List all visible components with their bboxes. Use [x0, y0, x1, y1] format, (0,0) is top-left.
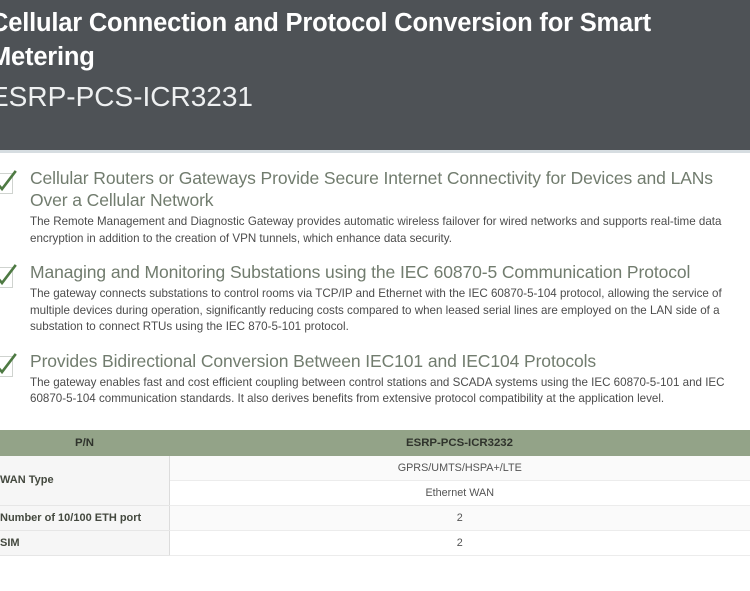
- table-row: WAN Type GPRS/UMTS/HSPA+/LTE: [0, 456, 750, 481]
- feature-description: The gateway connects substations to cont…: [30, 286, 736, 336]
- table-row: SIM 2: [0, 530, 750, 555]
- feature-description: The Remote Management and Diagnostic Gat…: [30, 214, 736, 247]
- row-label-wan-type: WAN Type: [0, 456, 169, 506]
- table-row: Number of 10/100 ETH port 2: [0, 505, 750, 530]
- row-label-eth-ports: Number of 10/100 ETH port: [0, 505, 169, 530]
- green-check-icon: [0, 264, 18, 290]
- feature-item: Managing and Monitoring Substations usin…: [0, 261, 750, 336]
- row-value: GPRS/UMTS/HSPA+/LTE: [169, 456, 750, 481]
- row-value: 2: [169, 505, 750, 530]
- column-header-model: ESRP-PCS-ICR3232: [169, 430, 750, 456]
- row-value: 2: [169, 530, 750, 555]
- spec-table: P/N ESRP-PCS-ICR3232 WAN Type GPRS/UMTS/…: [0, 430, 750, 556]
- page-title: Cellular Connection and Protocol Convers…: [0, 2, 690, 74]
- feature-title: Provides Bidirectional Conversion Betwee…: [30, 350, 736, 372]
- feature-item: Cellular Routers or Gateways Provide Sec…: [0, 167, 750, 247]
- table-header-row: P/N ESRP-PCS-ICR3232: [0, 430, 750, 456]
- feature-title: Cellular Routers or Gateways Provide Sec…: [30, 167, 736, 211]
- hero-content: Cellular Connection and Protocol Convers…: [0, 2, 750, 116]
- hero-banner: Cellular Connection and Protocol Convers…: [0, 0, 750, 150]
- feature-description: The gateway enables fast and cost effici…: [30, 375, 736, 408]
- green-check-icon: [0, 353, 18, 379]
- feature-item: Provides Bidirectional Conversion Betwee…: [0, 350, 750, 408]
- row-value: Ethernet WAN: [169, 480, 750, 505]
- feature-title: Managing and Monitoring Substations usin…: [30, 261, 736, 283]
- column-header-pn: P/N: [0, 430, 169, 456]
- product-model-subtitle: ESRP-PCS-ICR3231: [0, 74, 730, 116]
- green-check-icon: [0, 170, 18, 196]
- feature-list: Cellular Routers or Gateways Provide Sec…: [0, 153, 750, 408]
- spec-table-wrapper: P/N ESRP-PCS-ICR3232 WAN Type GPRS/UMTS/…: [0, 430, 750, 556]
- row-label-sim: SIM: [0, 530, 169, 555]
